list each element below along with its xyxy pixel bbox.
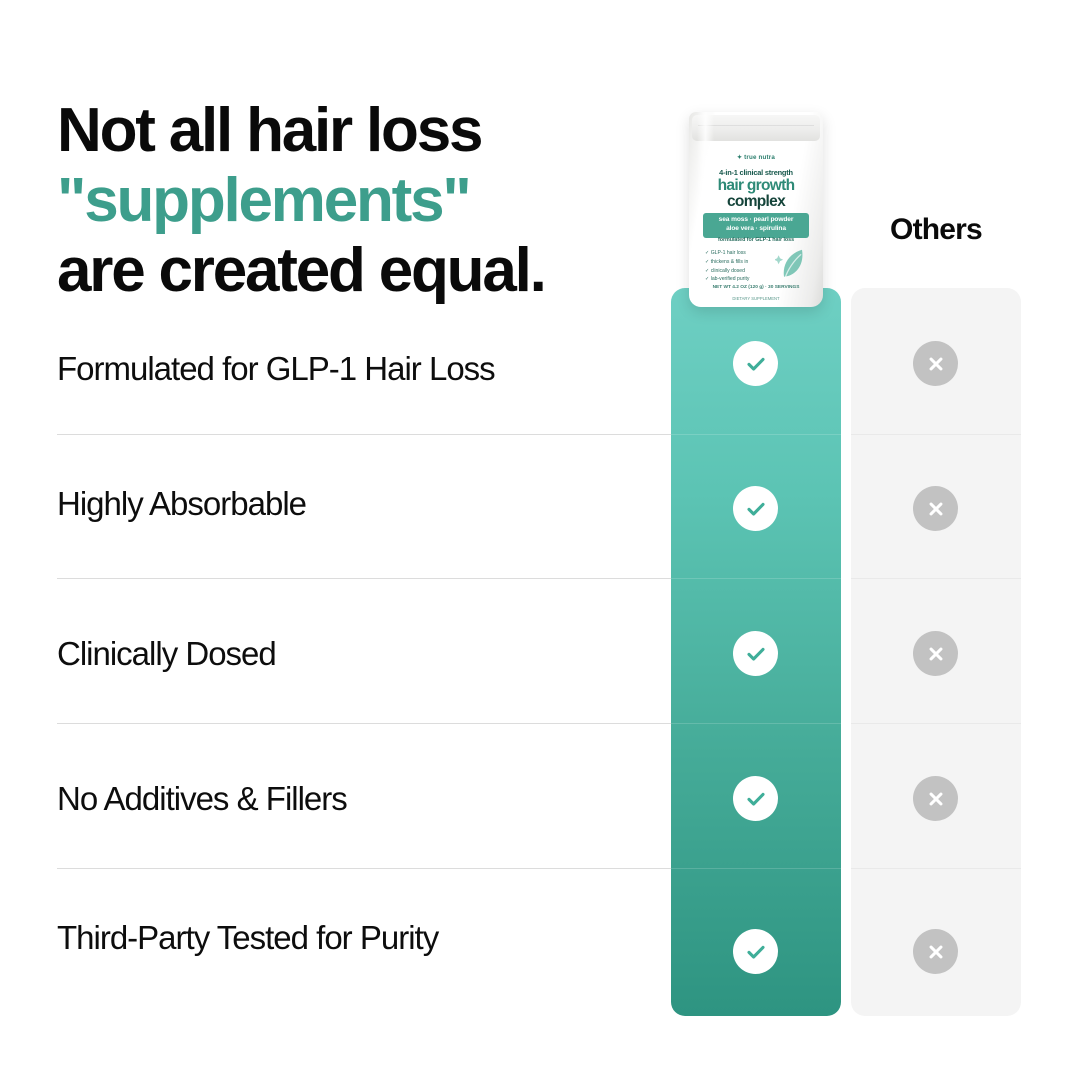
list-item: ✓ clinically dosed: [705, 267, 749, 276]
column-divider: [671, 868, 841, 869]
row-label: Highly Absorbable: [57, 485, 657, 523]
row-label: Formulated for GLP-1 Hair Loss: [57, 350, 657, 388]
check-icon: [733, 631, 778, 676]
comparison-infographic: Not all hair loss "supplements" are crea…: [0, 0, 1080, 1080]
check-icon: [733, 929, 778, 974]
pouch-subline: formulated for GLP-1 hair loss: [689, 237, 823, 243]
pouch-brand-text: true nutra: [744, 154, 775, 161]
pouch-name-line-1: hair growth: [689, 178, 823, 194]
cross-icon: [913, 776, 958, 821]
column-divider: [671, 434, 841, 435]
row-divider: [57, 723, 672, 724]
pouch-kicker: 4-in-1 clinical strength: [689, 168, 823, 177]
list-item: ✓ thickens & fills in: [705, 258, 749, 267]
row-label: Third-Party Tested for Purity: [57, 919, 657, 957]
column-divider: [851, 434, 1021, 435]
column-divider: [671, 578, 841, 579]
row-divider: [57, 868, 672, 869]
pouch-ingredient-banner: sea moss · pearl powder aloe vera · spir…: [703, 213, 809, 238]
row-label: No Additives & Fillers: [57, 780, 657, 818]
pouch-body: ✦ true nutra 4-in-1 clinical strength ha…: [689, 112, 823, 307]
check-icon: [733, 776, 778, 821]
pouch-net-weight: NET WT 4.2 OZ (120 g) · 30 SERVINGS: [689, 285, 823, 290]
headline-line-3: are created equal.: [57, 236, 697, 306]
pouch-footer: DIETARY SUPPLEMENT: [689, 296, 823, 301]
headline-line-1: Not all hair loss: [57, 96, 697, 166]
pouch-graphic-icon: [775, 246, 811, 286]
check-icon: [733, 341, 778, 386]
pouch-banner-line-1: sea moss · pearl powder: [703, 216, 809, 225]
column-header-others: Others: [851, 213, 1021, 247]
pouch-brand: ✦ true nutra: [689, 154, 823, 161]
list-item: ✓ lab-verified purity: [705, 275, 749, 284]
headline-line-2-accent: "supplements": [57, 166, 697, 236]
pouch-banner-line-2: aloe vera · spirulina: [703, 225, 809, 234]
cross-icon: [913, 341, 958, 386]
check-icon: [733, 486, 778, 531]
list-item: ✓ GLP-1 hair loss: [705, 249, 749, 258]
pouch-name-line-2: complex: [689, 194, 823, 210]
cross-icon: [913, 929, 958, 974]
row-divider: [57, 434, 672, 435]
column-divider: [851, 723, 1021, 724]
row-divider: [57, 578, 672, 579]
column-divider: [851, 578, 1021, 579]
row-label: Clinically Dosed: [57, 635, 657, 673]
leaf-icon: ✦: [737, 155, 742, 161]
column-divider: [671, 723, 841, 724]
cross-icon: [913, 631, 958, 676]
product-pouch-image: ✦ true nutra 4-in-1 clinical strength ha…: [689, 112, 823, 307]
column-divider: [851, 868, 1021, 869]
pouch-benefit-list: ✓ GLP-1 hair loss ✓ thickens & fills in …: [705, 249, 749, 284]
cross-icon: [913, 486, 958, 531]
page-title: Not all hair loss "supplements" are crea…: [57, 96, 697, 306]
